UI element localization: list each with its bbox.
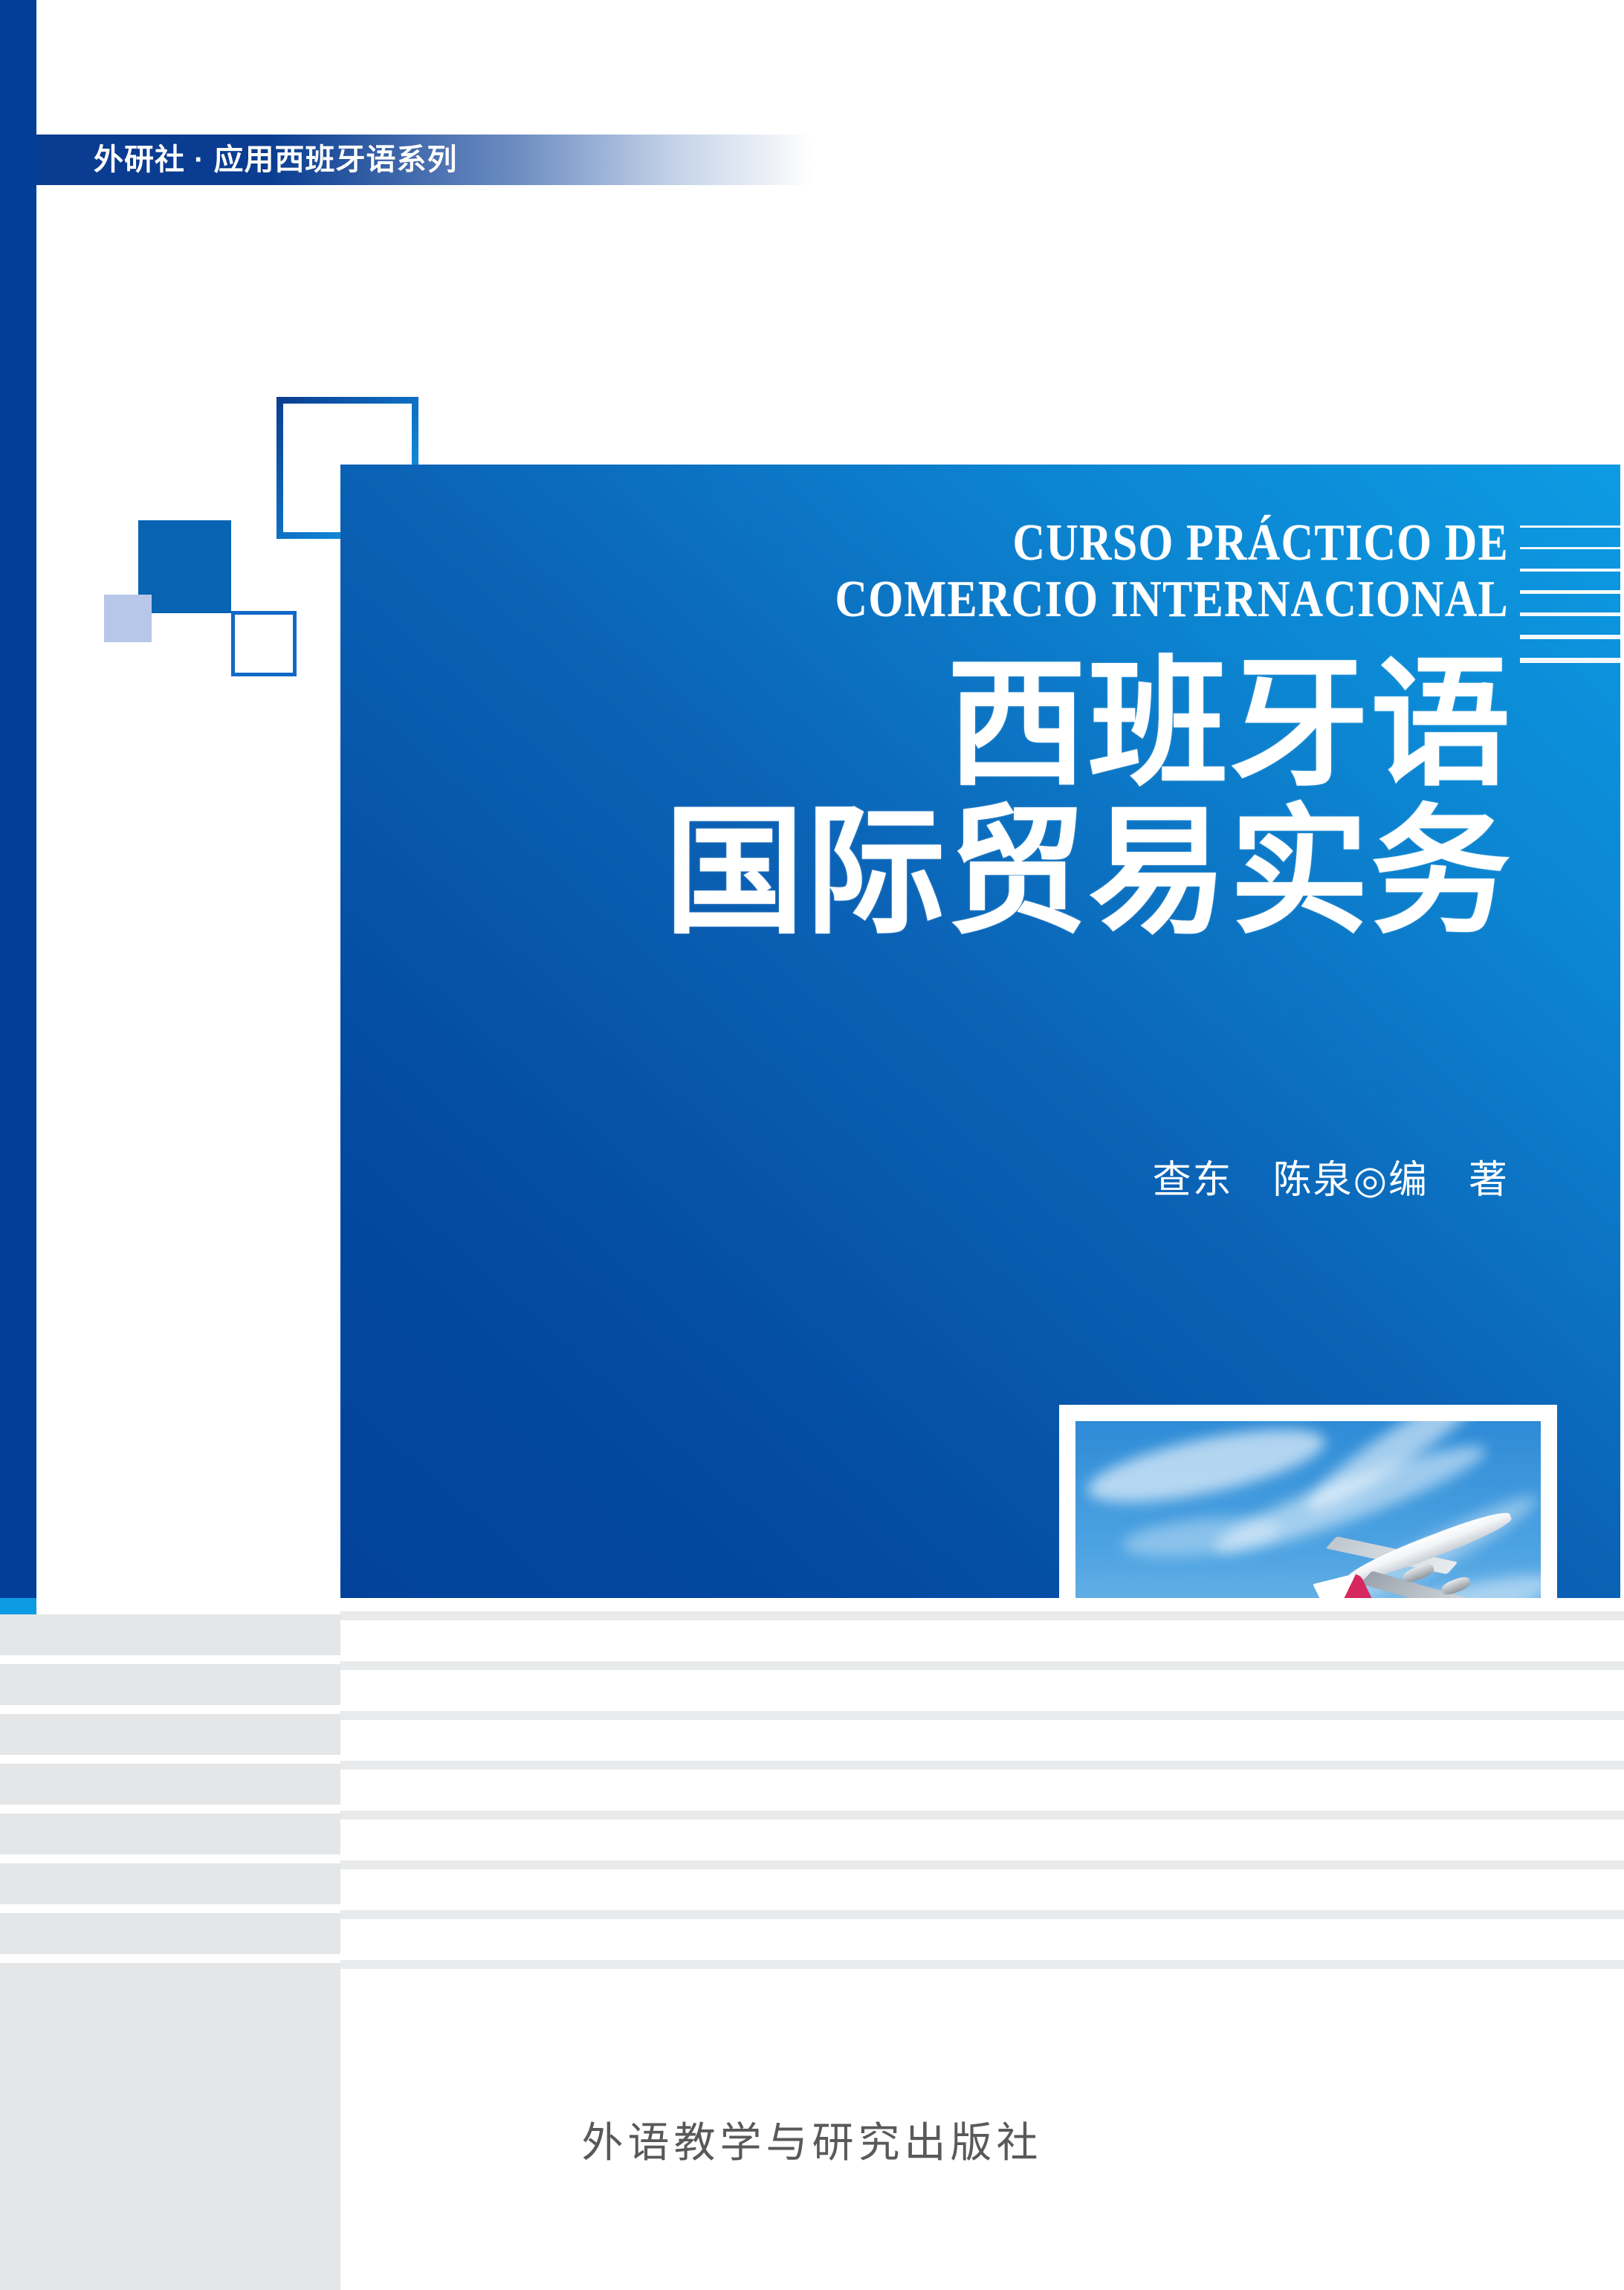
author-byline: 查东 陈泉◎编 著: [1153, 1148, 1509, 1204]
book-title-line-2: 国际贸易实务: [664, 798, 1512, 946]
stripe-rule: [340, 1811, 1624, 1820]
stripe-rule: [340, 1910, 1624, 1919]
spanish-subtitle: CURSO PRÁCTICO DE COMERCIO INTERNACIONAL: [835, 515, 1509, 627]
spanish-subtitle-line-1: CURSO PRÁCTICO DE: [835, 515, 1509, 572]
stripe-rule: [340, 1711, 1624, 1720]
decorative-square-light-small: [104, 595, 152, 642]
stripe-bar: [0, 1714, 340, 1755]
decorative-rule-lines: [1520, 525, 1620, 678]
stripe-bar: [0, 1913, 340, 1954]
stripes-left-column: [0, 1598, 340, 2290]
stripe-rule: [340, 1761, 1624, 1770]
bottom-stripe-band: [0, 1598, 1624, 2290]
book-title: 西班牙语 国际贸易实务: [664, 650, 1512, 947]
series-banner-label: 外研社 · 应用西班牙语系列: [94, 138, 458, 181]
stripe-bar: [0, 1614, 340, 1655]
stripe-rule: [340, 1661, 1624, 1670]
stripe-rule: [340, 1860, 1624, 1869]
airplane-engine: [1440, 1574, 1472, 1597]
stripe-bar: [0, 1814, 340, 1854]
decorative-square-filled-medium: [138, 520, 231, 613]
left-accent-bar: [0, 0, 36, 1598]
publisher-name: 外语教学与研究出版社: [0, 2109, 1624, 2170]
stripe-bar: [0, 1764, 340, 1805]
spanish-subtitle-line-2: COMERCIO INTERNACIONAL: [835, 572, 1509, 628]
book-title-line-1: 西班牙语: [664, 650, 1512, 798]
stripe-bar: [0, 1863, 340, 1904]
decorative-square-outline-small: [231, 611, 297, 676]
stripe-bar: [0, 1664, 340, 1705]
stripe-rule: [340, 1960, 1624, 1969]
stripe-rule: [340, 1611, 1624, 1620]
stripes-right-column: [340, 1598, 1624, 2290]
